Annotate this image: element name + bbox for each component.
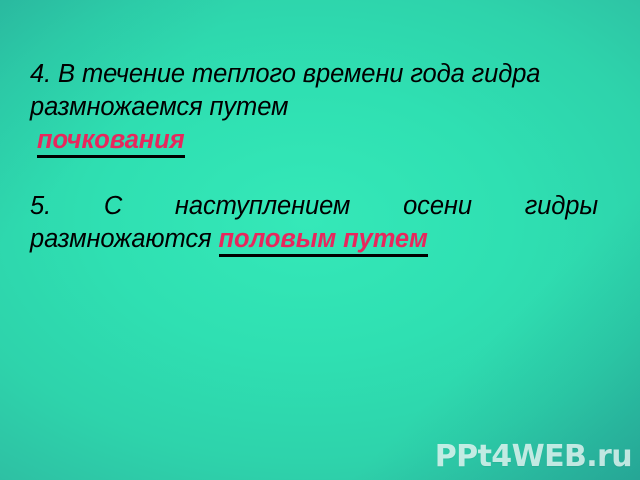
- paragraph-item-5-line-2: размножаются: [30, 225, 212, 253]
- slide-canvas: 4. В течение теплого времени года гидра …: [0, 0, 640, 480]
- highlight-polovym-putem: половым путем: [219, 225, 428, 257]
- highlight-leading-space-1: [30, 126, 37, 154]
- watermark-ppt4web: PPt4WEB.ru: [435, 439, 632, 474]
- paragraph-item-5: 5. С наступлением осени гидры размножают…: [30, 190, 598, 256]
- slide-text-body: 4. В течение теплого времени года гидра …: [30, 58, 598, 256]
- paragraph-spacer: [30, 157, 598, 190]
- highlight-pochkovaniya: почкования: [37, 126, 185, 158]
- paragraph-item-4: 4. В течение теплого времени года гидра …: [30, 58, 598, 157]
- paragraph-item-4-line-1: 4. В течение теплого времени года: [30, 60, 465, 88]
- paragraph-item-5-line-1: 5. С наступлением осени гидры: [30, 192, 598, 220]
